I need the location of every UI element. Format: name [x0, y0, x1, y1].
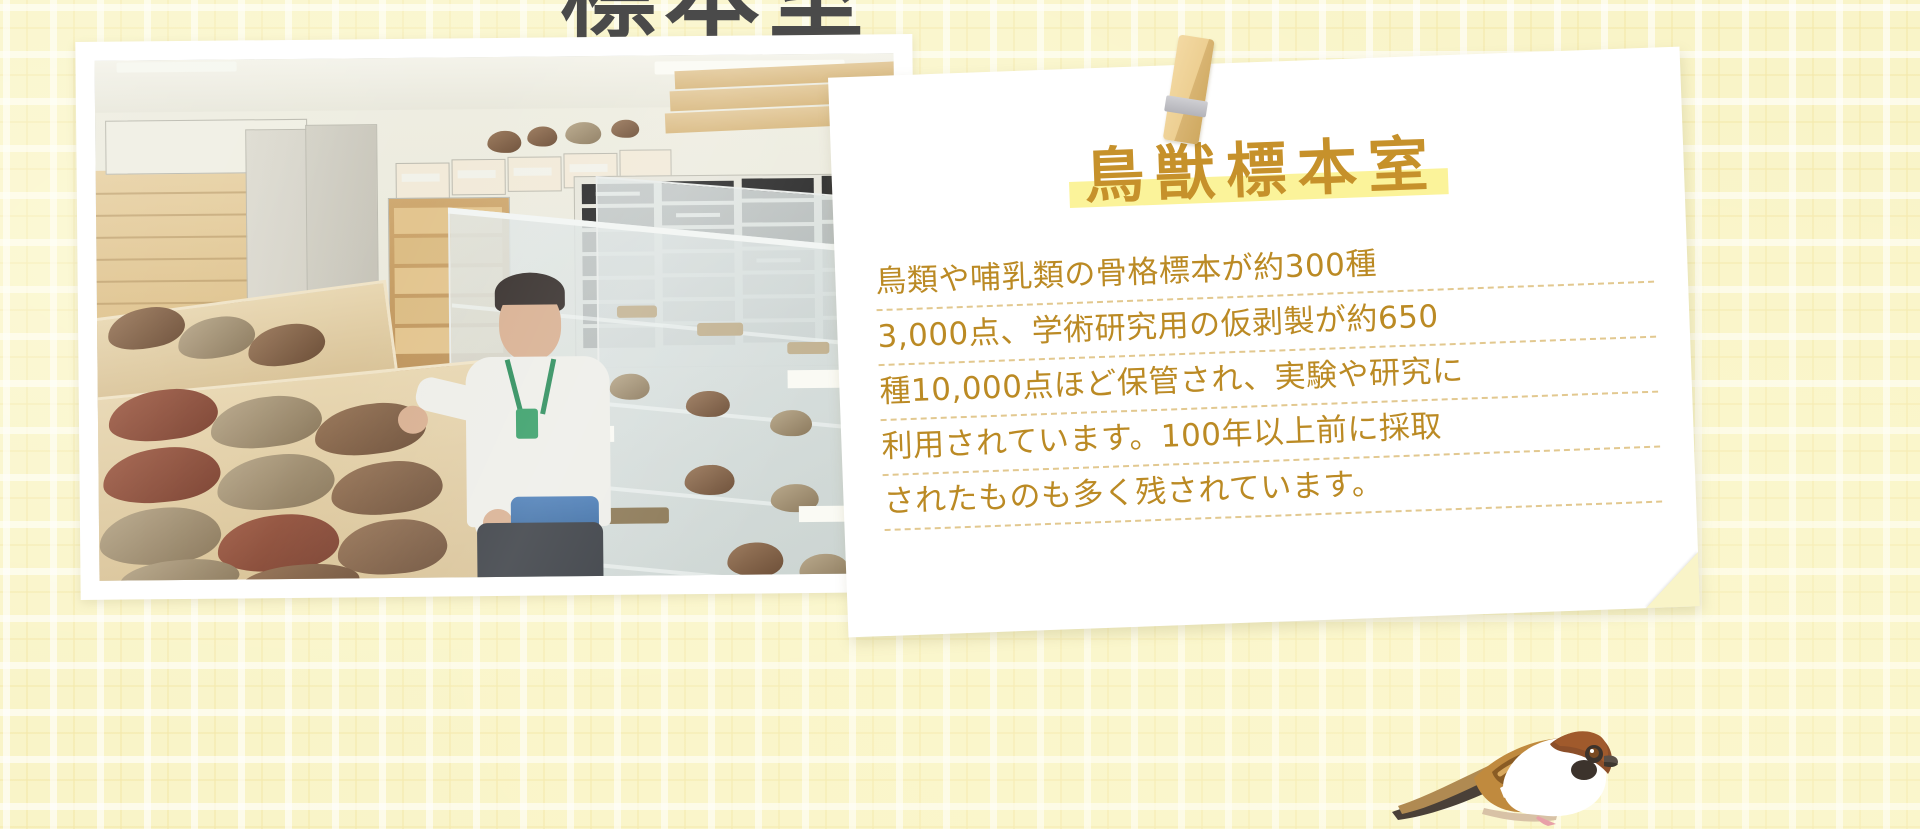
memo-body: 鳥類や哺乳類の骨格標本が約300種 3,000点、学術研究用の仮剥製が約650 …	[875, 228, 1663, 531]
page-fold-cover	[1644, 552, 1700, 608]
photo-card	[75, 34, 917, 600]
museum-photo	[95, 53, 899, 581]
memo-title-row: 鳥獣標本室	[831, 125, 1685, 219]
page-root: 標 本 室	[0, 0, 1920, 829]
memo-title-text: 鳥獣標本室	[1083, 129, 1440, 212]
memo-title: 鳥獣標本室	[1065, 133, 1450, 210]
tree-sparrow-icon	[1388, 716, 1618, 828]
memo-card: 鳥獣標本室 鳥類や哺乳類の骨格標本が約300種 3,000点、学術研究用の仮剥製…	[828, 47, 1700, 638]
